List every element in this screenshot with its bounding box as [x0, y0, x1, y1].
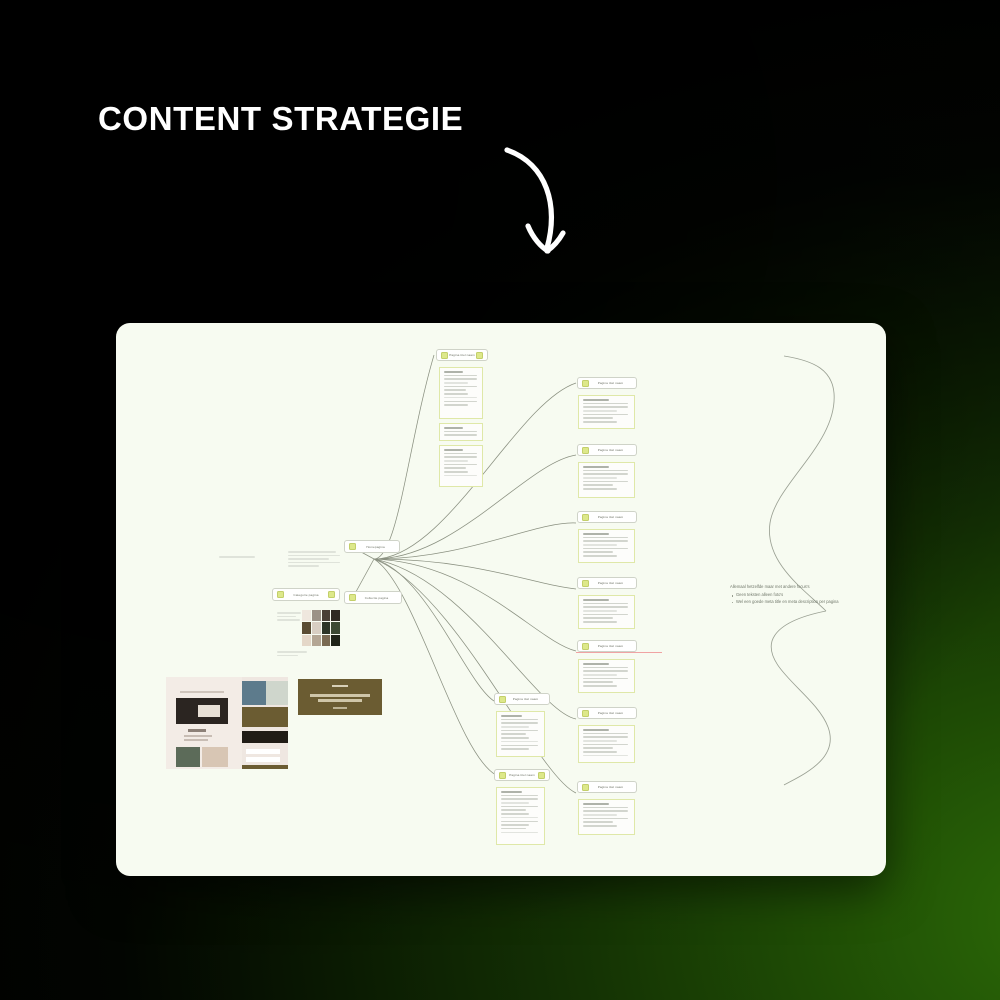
doc-text-line [583, 617, 613, 619]
doc-text-line [444, 471, 468, 473]
doc-text-line [583, 417, 613, 419]
doc-text-line [501, 715, 522, 717]
doc-text-line [444, 460, 468, 462]
doc-text-line [444, 427, 463, 429]
doc-text-line [501, 817, 538, 819]
node-column-2[interactable]: Pagina titel naam [577, 511, 637, 523]
palette-swatch [322, 610, 331, 621]
node-column-3[interactable]: Pagina titel naam [577, 577, 637, 589]
doc-text-line [444, 404, 468, 406]
doc-text-line [501, 737, 529, 739]
doc-text-line [583, 740, 617, 742]
annotation-bullet: Wel een goede meta title en meta descrip… [730, 599, 848, 606]
doc-text-line [583, 814, 617, 816]
doc-text-line [501, 802, 529, 804]
doc-text-line [583, 544, 617, 546]
doc-text-line [583, 678, 628, 680]
doc-text-line [583, 484, 613, 486]
page-icon [582, 514, 589, 521]
doc-card[interactable] [578, 529, 635, 563]
doc-text-line [583, 733, 628, 735]
page-icon [476, 352, 483, 359]
doc-text-line [444, 456, 477, 458]
annotation-heading: Allemaal hetzelfde maar met andere focus… [730, 584, 848, 591]
doc-text-line [501, 809, 526, 811]
doc-text-line [501, 821, 538, 823]
doc-text-line [583, 621, 617, 623]
page-icon [349, 543, 356, 550]
doc-text-line [444, 375, 477, 377]
divider-highlight [576, 652, 662, 653]
page-icon [582, 380, 589, 387]
node-column-0-label: Pagina titel naam [589, 381, 632, 385]
node-bottom-1-label: Pagina titel naam [506, 773, 538, 777]
doc-text-line [583, 488, 617, 490]
page-icon [538, 772, 545, 779]
annotation-note: Allemaal hetzelfde maar met andere focus… [730, 584, 848, 606]
doc-text-line [444, 401, 477, 403]
node-bottom-0-label: Pagina titel naam [506, 697, 545, 701]
doc-text-line [583, 555, 617, 557]
website-page-mockup [166, 677, 288, 769]
node-column-5-label: Pagina titel naam [589, 711, 632, 715]
doc-text-line [444, 453, 477, 455]
page-icon [441, 352, 448, 359]
doc-text-line [444, 434, 477, 436]
doc-text-line [583, 470, 628, 472]
doc-text-line [444, 371, 463, 373]
doc-text-line [444, 382, 468, 384]
doc-text-line [444, 475, 477, 477]
doc-text-line [583, 736, 628, 738]
doc-text-line [583, 414, 628, 416]
node-column-2-label: Pagina titel naam [589, 515, 632, 519]
doc-text-line [583, 685, 617, 687]
doc-text-line [583, 551, 613, 553]
doc-text-line [583, 807, 628, 809]
doc-text-line [583, 399, 609, 401]
page-icon [582, 580, 589, 587]
doc-text-line [444, 431, 477, 433]
doc-text-line [501, 791, 522, 793]
doc-text-line [583, 421, 617, 423]
doc-text-line [583, 537, 628, 539]
doc-text-line [583, 729, 609, 731]
doc-text-line [583, 803, 609, 805]
content-strategy-board[interactable]: Homepagina Categorie pagina Collectie pa… [116, 323, 886, 876]
node-secondary[interactable]: Categorie pagina [272, 588, 340, 601]
page-icon [582, 710, 589, 717]
palette-swatch [312, 610, 321, 621]
doc-card[interactable] [439, 367, 483, 419]
doc-text-line [583, 403, 628, 405]
doc-card[interactable] [439, 423, 483, 441]
doc-text-line [501, 795, 538, 797]
doc-text-line [501, 726, 529, 728]
doc-text-line [501, 741, 538, 743]
node-column-5[interactable]: Pagina titel naam [577, 707, 637, 719]
page-icon [582, 643, 589, 650]
doc-text-line [444, 386, 477, 388]
page-icon [328, 591, 335, 598]
doc-text-line [501, 733, 526, 735]
palette-swatch [302, 635, 311, 646]
color-palette [302, 610, 340, 646]
node-top-branch[interactable]: Pagina titel naam [436, 349, 488, 361]
palette-swatch [322, 622, 331, 633]
doc-text-line [444, 378, 477, 380]
doc-text-line [501, 730, 538, 732]
doc-text-line [583, 533, 609, 535]
doc-card[interactable] [496, 711, 545, 757]
node-column-4[interactable]: Pagina titel naam [577, 640, 637, 652]
node-secondary-label: Categorie pagina [284, 593, 328, 597]
doc-text-line [444, 393, 468, 395]
node-column-3-label: Pagina titel naam [589, 581, 632, 585]
palette-swatch [331, 610, 340, 621]
palette-swatch [331, 622, 340, 633]
doc-text-line [583, 548, 628, 550]
palette-swatch [312, 622, 321, 633]
node-column-1[interactable]: Pagina titel naam [577, 444, 637, 456]
doc-card[interactable] [439, 445, 483, 487]
doc-text-line [501, 798, 538, 800]
doc-card[interactable] [578, 799, 635, 835]
doc-text-line [583, 751, 617, 753]
doc-text-line [583, 603, 628, 605]
doc-text-line [444, 449, 463, 451]
palette-swatch [322, 635, 331, 646]
doc-text-line [583, 818, 628, 820]
doc-text-line [583, 599, 609, 601]
doc-text-line [583, 681, 613, 683]
doc-text-line [583, 663, 609, 665]
palette-swatch [302, 622, 311, 633]
doc-text-line [444, 397, 477, 399]
curved-arrow-down-icon [495, 140, 595, 270]
doc-text-line [501, 828, 526, 830]
node-column-1-label: Pagina titel naam [589, 448, 632, 452]
doc-text-line [583, 755, 628, 757]
doc-text-line [583, 614, 628, 616]
doc-text-line [444, 389, 466, 391]
doc-text-line [444, 464, 477, 466]
doc-text-line [501, 832, 538, 834]
hero-banner-mockup [298, 679, 382, 715]
doc-text-line [583, 810, 628, 812]
doc-text-line [583, 477, 617, 479]
doc-text-line [583, 670, 628, 672]
doc-text-line [501, 745, 538, 747]
doc-text-line [583, 744, 628, 746]
page-icon [277, 591, 284, 598]
ghost-text-block [288, 551, 340, 569]
page-icon [499, 772, 506, 779]
doc-text-line [501, 806, 538, 808]
page-icon [582, 784, 589, 791]
node-column-4-label: Pagina titel naam [589, 644, 632, 648]
node-hub-label: Homepagina [356, 545, 395, 549]
node-column-0[interactable]: Pagina titel naam [577, 377, 637, 389]
doc-text-line [501, 813, 529, 815]
doc-text-line [583, 674, 617, 676]
doc-text-line [583, 410, 617, 412]
doc-text-line [583, 466, 609, 468]
node-column-6[interactable]: Pagina titel naam [577, 781, 637, 793]
palette-note [277, 651, 307, 658]
page-title: CONTENT STRATEGIE [98, 100, 463, 138]
node-bottom-1[interactable]: Pagina titel naam [494, 769, 550, 781]
annotation-bullet: Geen teksten alleen foto's [730, 592, 848, 599]
doc-text-line [583, 406, 628, 408]
palette-swatch [312, 635, 321, 646]
doc-card[interactable] [578, 595, 635, 629]
node-bottom-0[interactable]: Pagina titel naam [494, 693, 550, 705]
node-column-6-label: Pagina titel naam [589, 785, 632, 789]
doc-text-line [583, 473, 628, 475]
node-top-branch-label: Pagina titel naam [448, 353, 476, 357]
doc-text-line [501, 719, 538, 721]
doc-text-line [583, 747, 613, 749]
doc-text-line [583, 481, 628, 483]
page-icon [582, 447, 589, 454]
node-tertiary-label: Collectie pagina [356, 596, 397, 600]
doc-text-line [501, 722, 538, 724]
page-icon [349, 594, 356, 601]
doc-text-line [501, 824, 529, 826]
doc-text-line [444, 467, 466, 469]
ghost-text-left [219, 556, 255, 560]
doc-text-line [583, 540, 628, 542]
doc-text-line [583, 825, 617, 827]
page-icon [499, 696, 506, 703]
node-tertiary[interactable]: Collectie pagina [344, 591, 402, 604]
doc-card[interactable] [578, 395, 635, 429]
node-hub[interactable]: Homepagina [344, 540, 400, 553]
doc-card[interactable] [578, 725, 635, 763]
annotation-bullets: Geen teksten alleen foto's Wel een goede… [730, 592, 848, 606]
doc-card[interactable] [496, 787, 545, 845]
doc-card[interactable] [578, 659, 635, 693]
doc-card[interactable] [578, 462, 635, 498]
palette-caption [277, 612, 301, 623]
doc-text-line [583, 610, 617, 612]
doc-text-line [583, 821, 613, 823]
palette-swatch [302, 610, 311, 621]
doc-text-line [583, 606, 628, 608]
doc-text-line [501, 748, 529, 750]
doc-text-line [583, 667, 628, 669]
palette-swatch [331, 635, 340, 646]
